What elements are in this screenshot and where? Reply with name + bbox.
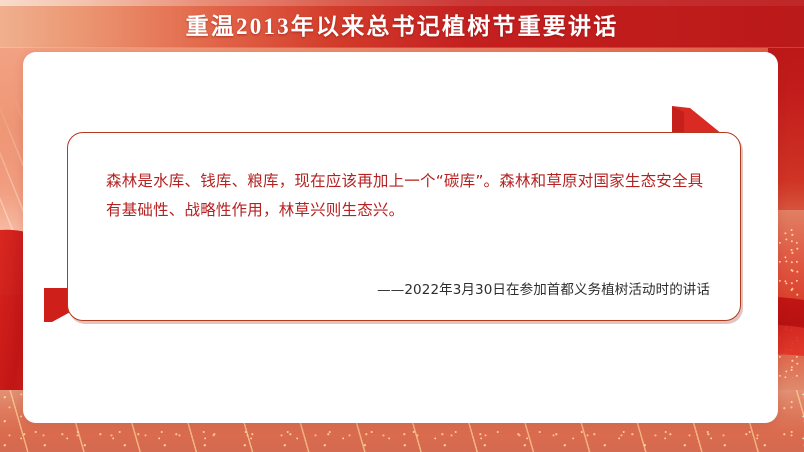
quote-attribution: ——2022年3月30日在参加首都义务植树活动时的讲话 <box>377 278 710 298</box>
page-title: 重温2013年以来总书记植树节重要讲话 <box>0 0 804 48</box>
quote-text: 森林是水库、钱库、粮库，现在应该再加上一个“碳库”。森林和草原对国家生态安全具有… <box>106 167 706 225</box>
slide-canvas: 重温2013年以来总书记植树节重要讲话 森林是水库、钱库、粮库，现在应该再加上一… <box>0 0 804 452</box>
quote-card: 森林是水库、钱库、粮库，现在应该再加上一个“碳库”。森林和草原对国家生态安全具有… <box>67 132 741 321</box>
ribbon-tab-icon <box>670 106 722 134</box>
